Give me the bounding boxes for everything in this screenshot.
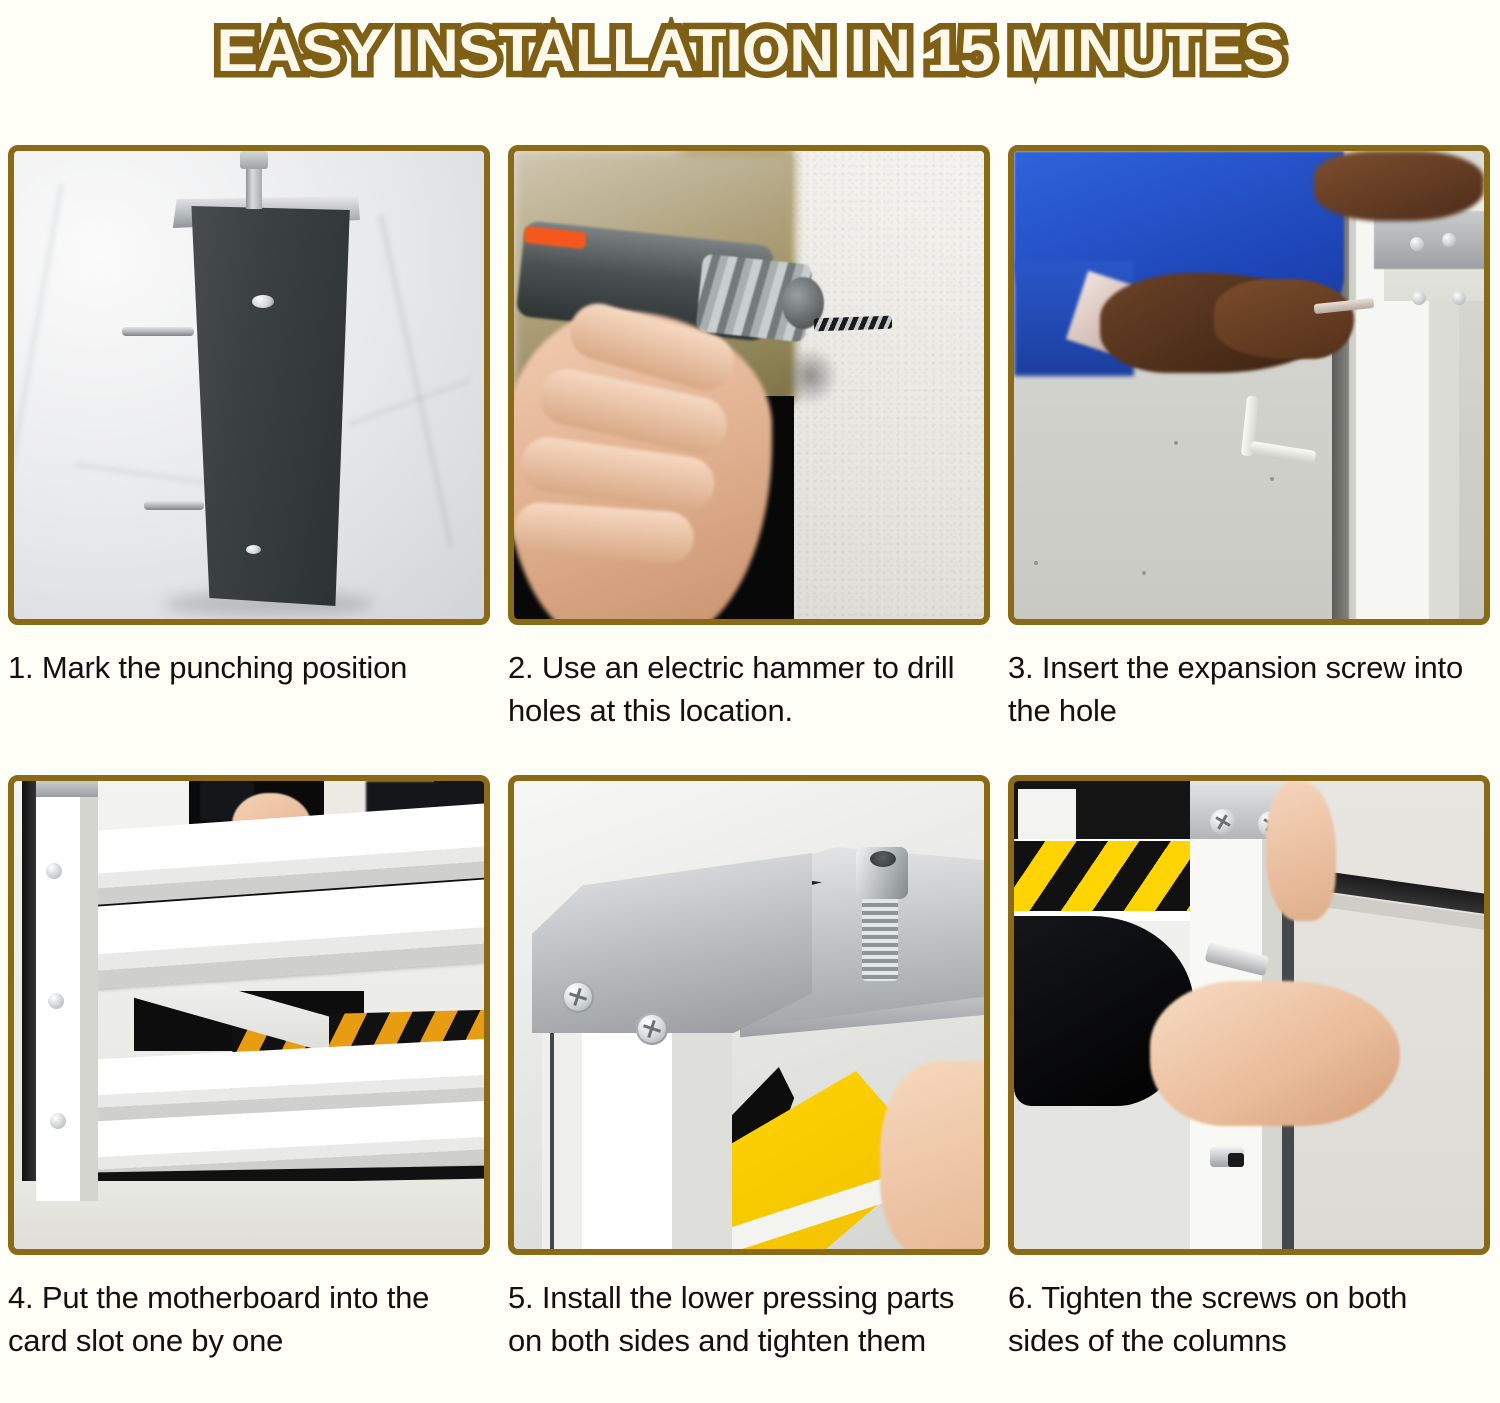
bolt-hex-socket (870, 851, 896, 867)
threaded-bolt-shaft (862, 891, 898, 981)
expansion-screw (1452, 291, 1466, 305)
post-screw (46, 863, 62, 879)
punch-hole-lower (246, 545, 261, 554)
step-4-caption: 4. Put the motherboard into the card slo… (8, 1277, 483, 1363)
banner: EASY INSTALLATION IN 15 MINUTES (0, 0, 1500, 100)
photo-1-scene (14, 151, 484, 619)
step-5-photo (508, 775, 990, 1255)
step-3: 3. Insert the expansion screw into the h… (1008, 145, 1490, 733)
drill-bit (814, 316, 892, 332)
floor-speck (1034, 561, 1038, 565)
marking-rod-upper (122, 327, 194, 336)
steps-grid: 1. Mark the punching position (0, 100, 1500, 1403)
installation-infographic: EASY INSTALLATION IN 15 MINUTES (0, 0, 1500, 1403)
step-3-caption: 3. Insert the expansion screw into the h… (1008, 647, 1483, 733)
photo-4-scene (14, 781, 484, 1249)
step-2: 2. Use an electric hammer to drill holes… (508, 145, 990, 733)
column-screw (1210, 809, 1236, 835)
step-2-photo (508, 145, 990, 625)
step-4-photo (8, 775, 490, 1255)
bracket-screw (636, 1013, 668, 1045)
step-6: 6. Tighten the screws on both sides of t… (1008, 775, 1490, 1363)
background-highlight (1018, 789, 1076, 839)
top-bolt-head (240, 151, 268, 169)
step-4: 4. Put the motherboard into the card slo… (8, 775, 490, 1363)
photo-6-scene (1014, 781, 1484, 1249)
floor-speck (1270, 477, 1274, 481)
step-5-caption: 5. Install the lower pressing parts on b… (508, 1277, 983, 1363)
step-1: 1. Mark the punching position (8, 145, 490, 690)
bracket-screw (562, 981, 594, 1013)
hazard-stripe-tape (1014, 841, 1200, 911)
step-6-photo (1008, 775, 1490, 1255)
photo-5-scene (514, 781, 984, 1249)
expansion-screw (1412, 291, 1426, 305)
marking-rod-lower (144, 501, 204, 510)
photo-2-scene (514, 151, 984, 619)
step-5: 5. Install the lower pressing parts on b… (508, 775, 990, 1363)
hand (880, 1061, 984, 1249)
expansion-screw (1442, 233, 1456, 247)
post-dark-edge (22, 781, 36, 1181)
floor-speck (1174, 441, 1178, 445)
step-6-caption: 6. Tighten the screws on both sides of t… (1008, 1277, 1483, 1363)
step-3-photo (1008, 145, 1490, 625)
floor-speck (1142, 571, 1146, 575)
expansion-screw (1410, 237, 1424, 251)
lower-screw-socket (1228, 1153, 1244, 1167)
post-screw (50, 1113, 66, 1129)
post-cap-plate (36, 781, 98, 797)
hand (1214, 279, 1354, 359)
step-2-caption: 2. Use an electric hammer to drill holes… (508, 647, 983, 733)
punch-hole-upper (252, 295, 274, 308)
guide-post (36, 781, 98, 1201)
drill-dust (782, 347, 838, 405)
post-seal-line (550, 1033, 554, 1249)
hand (1150, 981, 1400, 1126)
second-hand (1266, 781, 1336, 921)
post-screw (48, 993, 64, 1009)
photo-3-scene (1014, 151, 1484, 619)
step-1-caption: 1. Mark the punching position (8, 647, 483, 690)
page-title: EASY INSTALLATION IN 15 MINUTES (217, 16, 1284, 85)
second-hand (1314, 151, 1484, 221)
step-1-photo (8, 145, 490, 625)
white-post (542, 1031, 732, 1249)
